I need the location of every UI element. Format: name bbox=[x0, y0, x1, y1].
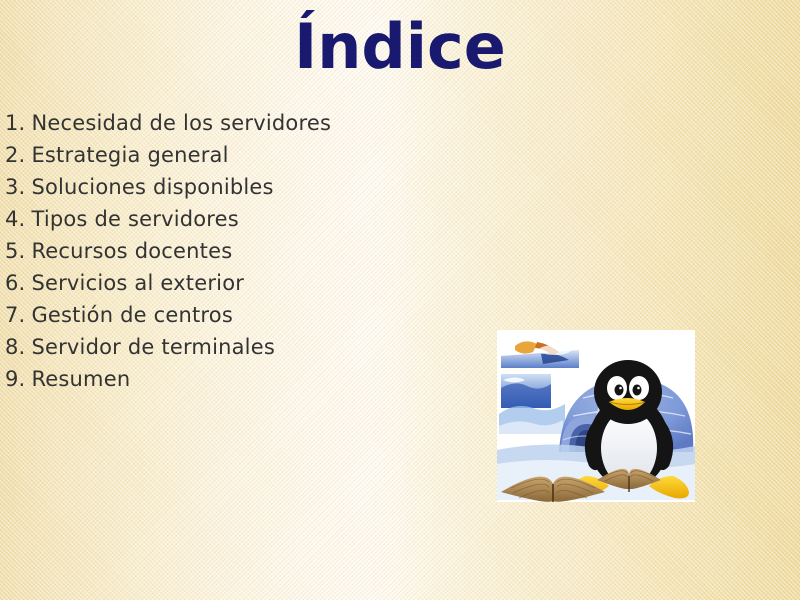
list-item: 9.Resumen bbox=[5, 363, 475, 395]
list-item-number: 8. bbox=[5, 331, 25, 363]
list-item-label: Soluciones disponibles bbox=[31, 171, 273, 203]
list-item-label: Resumen bbox=[31, 363, 130, 395]
list-item-number: 1. bbox=[5, 107, 25, 139]
page-title: Índice bbox=[0, 14, 800, 79]
presentation-slide: Índice 1.Necesidad de los servidores 2.E… bbox=[0, 0, 800, 600]
list-item-label: Servidor de terminales bbox=[31, 331, 275, 363]
list-item-label: Gestión de centros bbox=[31, 299, 233, 331]
list-item-label: Tipos de servidores bbox=[31, 203, 239, 235]
list-item-number: 7. bbox=[5, 299, 25, 331]
tux-penguin-image bbox=[497, 330, 695, 502]
tux-penguin-illustration bbox=[497, 330, 695, 502]
list-item: 4.Tipos de servidores bbox=[5, 203, 475, 235]
list-item: 6.Servicios al exterior bbox=[5, 267, 475, 299]
list-item: 8.Servidor de terminales bbox=[5, 331, 475, 363]
list-item: 2.Estrategia general bbox=[5, 139, 475, 171]
list-item-number: 3. bbox=[5, 171, 25, 203]
list-item: 3.Soluciones disponibles bbox=[5, 171, 475, 203]
list-item: 5.Recursos docentes bbox=[5, 235, 475, 267]
outline-list: 1.Necesidad de los servidores 2.Estrateg… bbox=[5, 107, 475, 395]
list-item-number: 6. bbox=[5, 267, 25, 299]
list-item-number: 2. bbox=[5, 139, 25, 171]
list-item-label: Necesidad de los servidores bbox=[31, 107, 331, 139]
list-item-label: Recursos docentes bbox=[31, 235, 232, 267]
list-item: 7.Gestión de centros bbox=[5, 299, 475, 331]
list-item-label: Estrategia general bbox=[31, 139, 228, 171]
list-item-number: 9. bbox=[5, 363, 25, 395]
list-item-number: 4. bbox=[5, 203, 25, 235]
list-item-label: Servicios al exterior bbox=[31, 267, 244, 299]
slide-content: Índice 1.Necesidad de los servidores 2.E… bbox=[0, 0, 800, 600]
list-item-number: 5. bbox=[5, 235, 25, 267]
list-item: 1.Necesidad de los servidores bbox=[5, 107, 475, 139]
